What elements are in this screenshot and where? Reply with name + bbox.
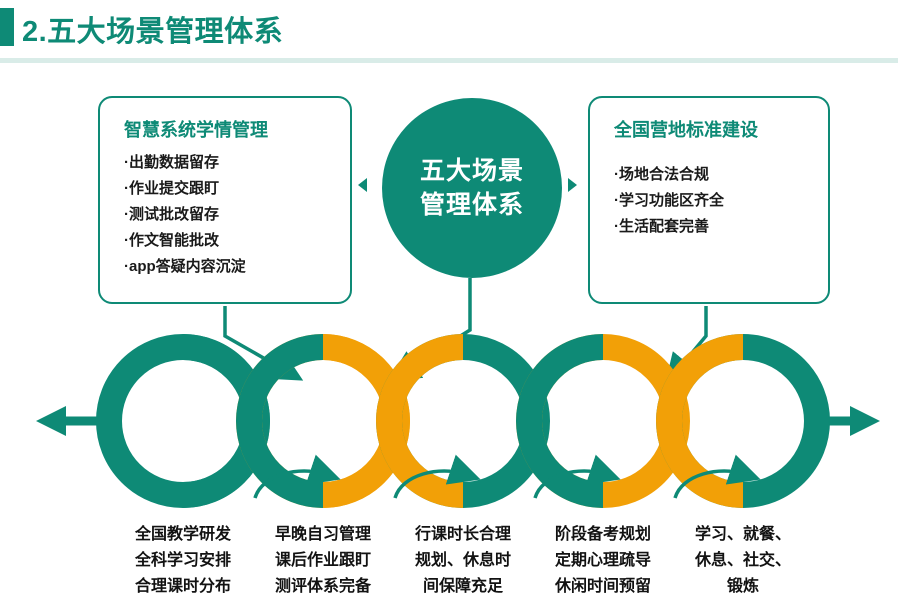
- left-arrow-icon: [358, 178, 367, 192]
- caption-line: 合理课时分布: [108, 574, 258, 600]
- list-item: ·学习功能区齐全: [614, 188, 724, 214]
- caption-line: 阶段备考规划: [528, 522, 678, 548]
- list-item: ·作文智能批改: [124, 228, 246, 254]
- caption-line: 休息、社交、: [668, 548, 818, 574]
- caption-line: 学习、就餐、: [668, 522, 818, 548]
- caption-line: 规划、休息时: [388, 548, 538, 574]
- caption-line: 课后作业跟盯: [248, 548, 398, 574]
- chain-label-routine: 作息 管理: [403, 388, 523, 452]
- caption-routine: 行课时长合理 规划、休息时 间保障充足: [388, 522, 538, 600]
- center-line1: 五大场景: [420, 154, 524, 188]
- caption-line: 间保障充足: [388, 574, 538, 600]
- card-title: 全国营地标准建设: [614, 116, 758, 142]
- caption-line: 全国教学研发: [108, 522, 258, 548]
- right-arrow-icon: [568, 178, 577, 192]
- caption-living: 学习、就餐、 休息、社交、 锻炼: [668, 522, 818, 600]
- card-list: ·场地合法合规 ·学习功能区齐全 ·生活配套完善: [614, 162, 724, 240]
- chain-label-after-class: 课下 管理: [263, 388, 383, 452]
- center-line2: 管理体系: [420, 188, 524, 222]
- chain-label-line1: 身心: [543, 388, 663, 420]
- caption-after-class: 早晚自习管理 课后作业跟盯 测评体系完备: [248, 522, 398, 600]
- chain-label-classroom: 课堂 管理: [123, 388, 243, 452]
- caption-line: 休闲时间预留: [528, 574, 678, 600]
- chain-label-line1: 课下: [263, 388, 383, 420]
- chain-label-living: 生活 管理: [683, 388, 803, 452]
- list-item: ·作业提交跟盯: [124, 176, 246, 202]
- chain-label-line1: 课堂: [123, 388, 243, 420]
- chain-label-line2: 管理: [543, 420, 663, 452]
- list-item: ·出勤数据留存: [124, 150, 246, 176]
- caption-line: 全科学习安排: [108, 548, 258, 574]
- list-item: ·生活配套完善: [614, 214, 724, 240]
- card-title: 智慧系统学情管理: [124, 116, 268, 142]
- chain-label-body-mind: 身心 管理: [543, 388, 663, 452]
- chain-label-line2: 管理: [403, 420, 523, 452]
- chain-label-line1: 生活: [683, 388, 803, 420]
- list-item: ·测试批改留存: [124, 202, 246, 228]
- diagram-graphics: [0, 0, 898, 609]
- caption-line: 行课时长合理: [388, 522, 538, 548]
- chain-label-line2: 管理: [263, 420, 383, 452]
- list-item: ·app答疑内容沉淀: [124, 254, 246, 280]
- list-item: ·场地合法合规: [614, 162, 724, 188]
- caption-line: 早晚自习管理: [248, 522, 398, 548]
- chain-label-line1: 作息: [403, 388, 523, 420]
- card-list: ·出勤数据留存 ·作业提交跟盯 ·测试批改留存 ·作文智能批改 ·app答疑内容…: [124, 150, 246, 280]
- caption-line: 测评体系完备: [248, 574, 398, 600]
- chain-label-line2: 管理: [123, 420, 243, 452]
- caption-line: 锻炼: [668, 574, 818, 600]
- chain-label-line2: 管理: [683, 420, 803, 452]
- caption-body-mind: 阶段备考规划 定期心理疏导 休闲时间预留: [528, 522, 678, 600]
- center-circle: 五大场景 管理体系: [382, 98, 562, 278]
- info-card-camp-standard: 全国营地标准建设 ·场地合法合规 ·学习功能区齐全 ·生活配套完善: [588, 96, 830, 304]
- info-card-smart-system: 智慧系统学情管理 ·出勤数据留存 ·作业提交跟盯 ·测试批改留存 ·作文智能批改…: [98, 96, 352, 304]
- caption-classroom: 全国教学研发 全科学习安排 合理课时分布: [108, 522, 258, 600]
- caption-line: 定期心理疏导: [528, 548, 678, 574]
